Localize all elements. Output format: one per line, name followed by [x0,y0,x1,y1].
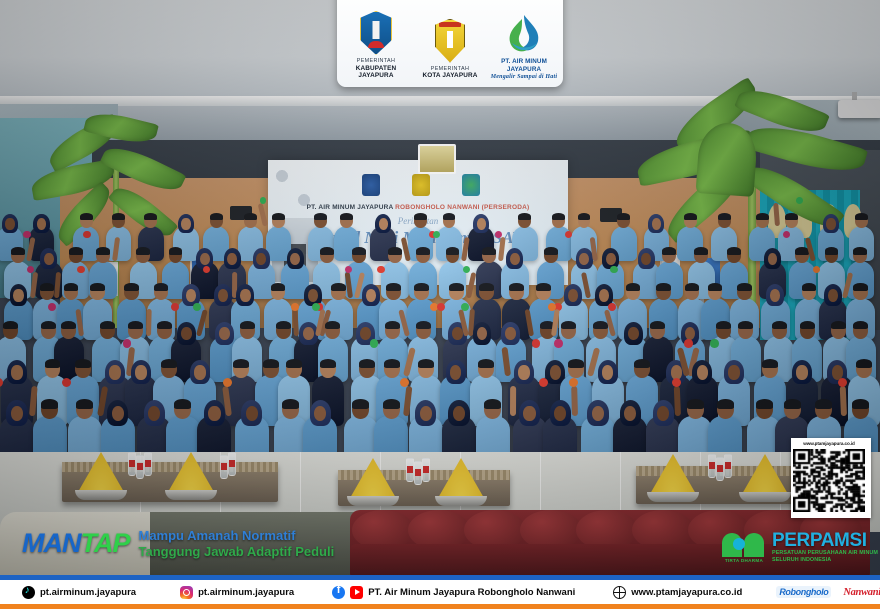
decorative-flower [548,303,556,311]
person-face [44,253,54,265]
backdrop-logo-regency [362,174,380,196]
person-face [606,253,616,265]
person-hair [656,283,670,291]
person-face [208,406,220,421]
person-peci-cap [684,213,697,220]
logo-regency: PEMERINTAH KABUPATEN JAYAPURA [342,11,410,80]
nanwani-logo: Nanwani [843,587,880,598]
person-face [523,406,535,421]
person-hair [383,399,400,409]
wall-plaque [418,144,456,174]
person-hair [662,247,676,255]
person-hair [320,247,334,255]
qr-code[interactable] [793,449,865,512]
person-hair [136,247,150,255]
person-hair [552,213,565,220]
person-face [728,365,740,379]
robongholo-logo: Robongholo [776,586,831,598]
person-face [194,365,206,379]
person-face [826,218,835,230]
logo-regency-line1: PEMERINTAH [342,58,410,65]
decorative-flower [554,339,562,347]
person-hair [271,283,285,291]
youtube-icon [350,586,363,599]
person-peci-cap [286,359,302,368]
person-face [770,289,780,302]
top-logo-banner: PEMERINTAH KABUPATEN JAYAPURA PEMERINTAH… [337,0,563,87]
person-face [602,365,614,379]
person-face [11,365,23,379]
person-peci-cap [578,213,591,220]
person-peci-cap [484,399,501,409]
decorative-flower [23,231,30,238]
person-peci-cap [352,247,366,255]
person-face [420,406,432,421]
logo-company-tagline: Mengalir Sampai di Hati [490,74,558,80]
backdrop-logo-city [412,174,430,196]
person-face [256,253,266,265]
water-drop-leaf-icon [504,13,544,55]
person-hair [359,359,375,368]
decorative-flower [463,266,471,274]
footer-label-website: www.ptamjayapura.co.id [631,587,742,598]
person-hair [282,399,299,409]
decorative-flower [437,303,445,311]
person-peci-cap [340,213,353,220]
person-peci-cap [384,359,400,368]
person-face [768,253,778,265]
person-peci-cap [479,283,493,291]
perpamsi-subtitle-line2: SELURUH INDONESIA [772,557,878,564]
water-bottle [144,452,152,476]
person-hair [756,213,769,220]
decorative-flower [610,266,618,274]
person-hair [626,283,640,291]
mantap-word-part1: MAN [22,528,81,558]
person-hair [716,321,731,329]
globe-icon [613,586,626,599]
person-face [592,406,604,421]
person-hair [617,213,630,220]
person-hair [90,283,104,291]
person-hair [414,213,427,220]
person-face [290,253,300,265]
jayapura-city-emblem-icon [435,19,465,63]
mantap-tagline-line1: Mampu Amanah Normatif [139,528,335,544]
instagram-icon [180,586,193,599]
person-hair [831,321,846,329]
person-hair [593,321,608,329]
person-hair [154,283,168,291]
event-photo-card: PT. AIR MINUM JAYAPURA ROBONGHOLO NANWAN… [0,0,880,609]
person-face [796,365,808,379]
person-hair [325,321,340,329]
person-face [112,406,124,421]
footer-label-tiktok: pt.airminum.jayapura [40,587,136,598]
water-bottle [228,452,236,476]
person-peci-cap [518,213,531,220]
perpamsi-mark-caption: TIRTA DHARMA [722,558,766,563]
person-hair [650,321,665,329]
person-face [366,289,376,302]
person-hair [509,283,523,291]
logo-company-name: PT. AIR MINUM JAYAPURA [490,58,558,74]
person-hair [100,321,115,329]
mantap-wordmark: MANTAP [22,530,130,557]
person-hair [536,283,550,291]
decorative-flower [783,231,790,238]
water-bottle [128,452,136,476]
person-hair [240,321,255,329]
footer-orange-rule [0,604,880,609]
crowd-of-people [0,228,880,458]
person-hair [40,283,54,291]
person-face [477,218,486,230]
backdrop-logo-company [462,174,480,196]
person-peci-cap [772,321,787,329]
person-hair [443,213,456,220]
person-hair [855,213,868,220]
water-bottle [716,457,724,481]
logo-city-line1: PEMERINTAH [416,66,484,73]
decorative-flower [684,339,692,347]
logo-city: PEMERINTAH KOTA JAYAPURA [416,19,484,80]
person-face [510,253,520,265]
person-hair [800,321,815,329]
person-hair [3,321,18,329]
person-face [518,365,530,379]
mantap-word-part2: TAP [81,528,130,558]
qr-code-caption: www.ptamjayapura.co.id [791,441,867,446]
decorative-flower [193,303,201,311]
raised-arm [571,386,578,417]
person-hair [634,359,650,368]
person-peci-cap [568,359,584,368]
person-hair [75,359,91,368]
raised-arm [840,386,847,417]
person-hair [853,247,867,255]
person-face [379,218,388,230]
decorative-flower [312,303,320,311]
person-peci-cap [233,359,249,368]
person-hair [314,213,327,220]
person-hair [802,283,816,291]
person-face [135,365,147,379]
person-hair [144,213,157,220]
person-peci-cap [388,247,402,255]
person-peci-cap [124,283,138,291]
perpamsi-mark-icon: TIRTA DHARMA [722,533,766,563]
person-face [453,406,465,421]
decorative-flower [433,231,440,238]
person-hair [856,359,872,368]
decorative-flower [48,303,56,311]
person-face [200,253,210,265]
person-hair [687,399,704,409]
person-face [181,327,192,340]
person-hair [416,247,430,255]
person-face [697,365,709,379]
person-peci-cap [244,213,257,220]
footer-item-robongholo: Robongholo [776,586,831,598]
person-hair [80,213,93,220]
decorative-flower [565,231,572,238]
person-hair [263,359,279,368]
footer-item-nanwani: Nanwani [843,587,880,598]
person-peci-cap [784,399,801,409]
water-bottle [422,458,430,482]
perpamsi-logo: TIRTA DHARMA PERPAMSI PERSATUAN PERUSAHA… [722,532,878,564]
footer-item-facebook-youtube[interactable]: PT. Air Minum Jayapura Robongholo Nanwan… [332,586,575,599]
person-peci-cap [96,247,110,255]
person-peci-cap [815,399,832,409]
person-face [246,406,258,421]
decorative-flower [171,303,179,311]
backdrop-line-1: PT. AIR MINUM JAYAPURA ROBONGHOLO NANWAN… [268,204,568,211]
person-peci-cap [352,399,369,409]
person-hair [852,399,869,409]
footer-item-website[interactable]: www.ptamjayapura.co.id [613,586,742,599]
person-hair [544,247,558,255]
person-face [181,218,190,230]
water-bottle [708,454,716,478]
person-face [240,289,250,302]
person-hair [708,283,722,291]
person-hair [61,321,76,329]
logo-city-line2: KOTA JAYAPURA [416,72,484,80]
person-face [554,406,566,421]
person-hair [478,359,494,368]
raised-arm [510,386,516,416]
footer-bar: pt.airminum.jayapura pt.airminum.jayapur… [0,580,880,604]
footer-label-instagram: pt.airminum.jayapura [198,587,294,598]
water-bottle [724,454,732,478]
person-hair [386,283,400,291]
person-face [628,327,639,340]
mantap-logo: MANTAP Mampu Amanah Normatif Tanggung Ja… [22,528,334,560]
person-face [11,406,23,421]
person-face [227,253,237,265]
decorative-flower [838,378,847,387]
jayapura-regency-emblem-icon [360,11,392,55]
decorative-flower [83,231,90,238]
person-hair [853,283,867,291]
person-hair [276,321,291,329]
person-peci-cap [561,321,576,329]
water-bottle [406,458,414,482]
water-bottle [136,455,144,479]
person-hair [174,399,191,409]
person-hair [112,213,125,220]
decorative-flower [291,303,299,311]
tiktok-icon [22,586,35,599]
person-peci-cap [128,321,143,329]
person-hair [45,359,61,368]
mantap-tagline: Mampu Amanah Normatif Tanggung Jawab Ada… [139,528,335,560]
decorative-flower [495,231,502,238]
person-peci-cap [762,359,778,368]
person-peci-cap [11,247,25,255]
person-hair [320,359,336,368]
person-hair [416,321,431,329]
person-face [218,289,228,302]
person-face [314,406,326,421]
person-hair [694,247,708,255]
person-hair [482,247,496,255]
person-face [450,365,462,379]
decorative-flower [77,266,85,274]
person-face [657,406,669,421]
person-hair [41,321,56,329]
person-peci-cap [718,213,731,220]
person-hair [785,213,798,220]
person-hair [331,283,345,291]
person-hair [449,283,463,291]
perpamsi-title: PERPAMSI [772,532,878,550]
water-bottle [220,455,228,479]
person-face [550,365,562,379]
decorative-flower [370,339,378,347]
person-hair [446,247,460,255]
person-hair [727,247,741,255]
perpamsi-text: PERPAMSI PERSATUAN PERUSAHAAN AIR MINUM … [772,532,878,564]
footer-item-instagram[interactable]: pt.airminum.jayapura [180,586,294,599]
person-face [308,289,318,302]
perpamsi-subtitle-line1: PERSATUAN PERUSAHAAN AIR MINUM [772,550,878,557]
person-face [828,289,838,302]
person-face [599,289,609,302]
decorative-flower [539,378,548,387]
person-peci-cap [717,399,734,409]
person-face [579,253,589,265]
decorative-flower [710,339,718,347]
person-hair [64,283,78,291]
backdrop-logos [346,174,496,196]
person-peci-cap [737,283,751,291]
person-hair [418,359,434,368]
person-peci-cap [210,213,223,220]
person-peci-cap [756,399,773,409]
decorative-flower [62,378,71,387]
person-hair [272,213,285,220]
person-hair [161,359,177,368]
person-hair [385,321,400,329]
person-peci-cap [685,283,699,291]
logo-company: PT. AIR MINUM JAYAPURA Mengalir Sampai d… [490,11,558,80]
person-hair [157,321,172,329]
person-hair [738,321,753,329]
footer-label-facebook-youtube: PT. Air Minum Jayapura Robongholo Nanwan… [368,587,575,598]
person-face [5,218,14,230]
person-hair [69,247,83,255]
person-face [568,289,578,302]
decorative-flower [461,303,469,311]
person-face [652,218,661,230]
person-hair [169,247,183,255]
mantap-tagline-line2: Tanggung Jawab Adaptif Peduli [139,544,335,560]
footer-item-tiktok[interactable]: pt.airminum.jayapura [22,586,136,599]
person-face [186,289,196,302]
person-hair [853,321,868,329]
decorative-flower [377,266,385,274]
person-face [37,218,46,230]
decorative-flower [608,303,616,311]
logo-regency-line2: KABUPATEN JAYAPURA [342,65,410,80]
water-bottle [414,461,422,485]
facebook-icon [332,586,345,599]
person-hair [414,283,428,291]
raised-arm [54,272,61,298]
person-hair [76,399,93,409]
person-hair [825,247,839,255]
person-face [13,289,23,302]
person-face [641,253,651,265]
person-face [109,365,121,379]
person-peci-cap [41,399,58,409]
